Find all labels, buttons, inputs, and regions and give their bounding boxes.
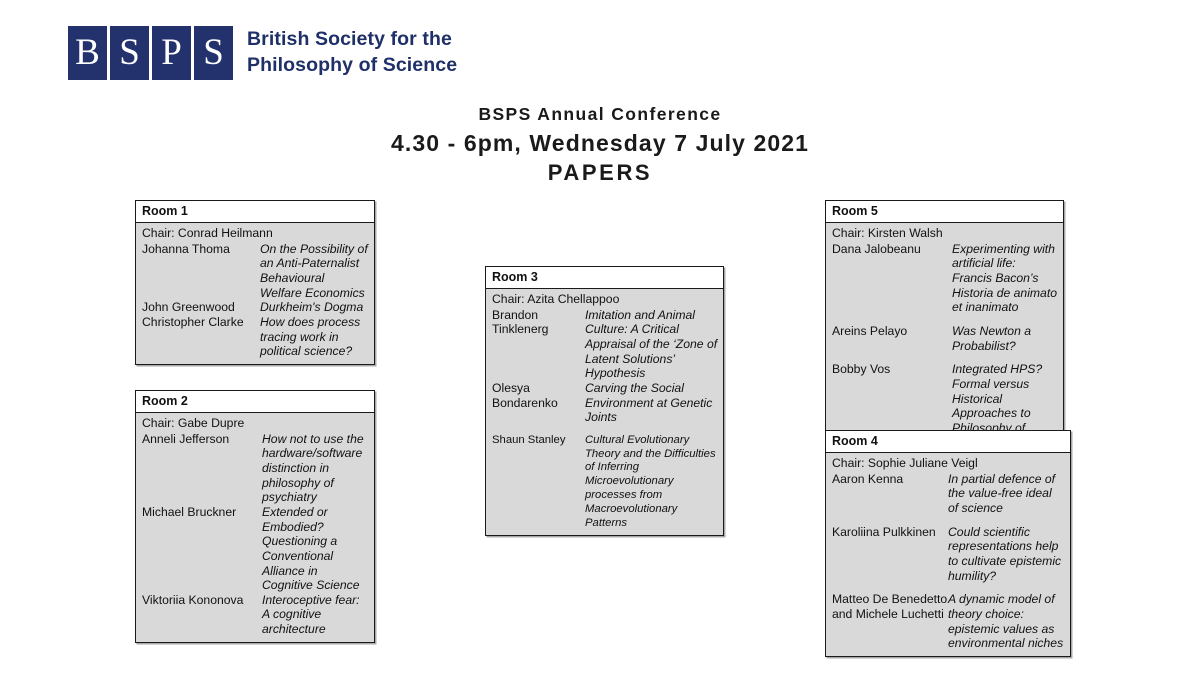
paper-entry: Viktoriia KononovaInteroceptive fear: A … <box>142 593 369 637</box>
room-panel-room-5: Room 5Chair: Kirsten WalshDana Jalobeanu… <box>825 200 1064 456</box>
entry-spacer <box>832 583 1065 592</box>
room-panel-room-3: Room 3Chair: Azita ChellappooBrandon Tin… <box>485 266 724 536</box>
entry-spacer <box>832 516 1065 525</box>
paper-title: In partial defence of the value-free ide… <box>948 472 1065 516</box>
paper-entry: Anneli JeffersonHow not to use the hardw… <box>142 432 369 505</box>
room-panel-room-2: Room 2Chair: Gabe DupreAnneli JeffersonH… <box>135 390 375 643</box>
room-body-room4: Chair: Sophie Juliane VeiglAaron KennaIn… <box>826 453 1070 655</box>
paper-entry: Matteo De Benedetto and Michele Luchetti… <box>832 592 1065 651</box>
room-chair-room5: Chair: Kirsten Walsh <box>832 226 1058 240</box>
logo-letter-b1: B <box>68 26 107 80</box>
speaker-name: Michael Bruckner <box>142 505 262 520</box>
speaker-name: Shaun Stanley <box>492 434 585 448</box>
paper-title: Cultural Evolutionary Theory and the Dif… <box>585 434 718 530</box>
logo-letter-s1: S <box>110 26 149 80</box>
paper-title: Carving the Social Environment at Geneti… <box>585 381 718 425</box>
paper-entry: Michael BrucknerExtended or Embodied? Qu… <box>142 505 369 593</box>
room-panel-room-1: Room 1Chair: Conrad HeilmannJohanna Thom… <box>135 200 375 365</box>
room-body-room2: Chair: Gabe DupreAnneli JeffersonHow not… <box>136 413 374 641</box>
paper-title: Extended or Embodied? Questioning a Conv… <box>262 505 369 593</box>
room-body-room1: Chair: Conrad HeilmannJohanna ThomaOn th… <box>136 223 374 364</box>
speaker-name: Olesya Bondarenko <box>492 381 585 410</box>
speaker-name: Christopher Clarke <box>142 315 260 330</box>
paper-entry: Dana JalobeanuExperimenting with artific… <box>832 242 1058 315</box>
logo-wordmark: British Society for the Philosophy of Sc… <box>247 27 457 78</box>
logo-letter-s2: S <box>194 26 233 80</box>
room-title-room2: Room 2 <box>136 391 374 413</box>
paper-title: On the Possibility of an Anti-Paternalis… <box>260 242 369 301</box>
room-title-room4: Room 4 <box>826 431 1070 453</box>
paper-title: Could scientific representations help to… <box>948 525 1065 584</box>
paper-entry: Brandon TinklenergImitation and Animal C… <box>492 308 718 381</box>
paper-entry: Shaun StanleyCultural Evolutionary Theor… <box>492 434 718 530</box>
room-chair-room2: Chair: Gabe Dupre <box>142 416 369 430</box>
room-chair-room1: Chair: Conrad Heilmann <box>142 226 369 240</box>
room-body-room3: Chair: Azita ChellappooBrandon Tinklener… <box>486 289 723 535</box>
speaker-name: Karoliina Pulkkinen <box>832 525 948 540</box>
logo-letter-p: P <box>152 26 191 80</box>
speaker-name: Johanna Thoma <box>142 242 260 257</box>
paper-entry: Aaron KennaIn partial defence of the val… <box>832 472 1065 516</box>
conference-datetime: 4.30 - 6pm, Wednesday 7 July 2021 <box>0 130 1200 157</box>
paper-title: Interoceptive fear: A cognitive architec… <box>262 593 369 637</box>
speaker-name: Brandon Tinklenerg <box>492 308 585 337</box>
room-body-room5: Chair: Kirsten WalshDana JalobeanuExperi… <box>826 223 1063 455</box>
room-chair-room4: Chair: Sophie Juliane Veigl <box>832 456 1065 470</box>
room-panel-room-4: Room 4Chair: Sophie Juliane VeiglAaron K… <box>825 430 1071 657</box>
paper-title: Was Newton a Probabilist? <box>952 324 1058 353</box>
room-title-room3: Room 3 <box>486 267 723 289</box>
paper-title: A dynamic model of theory choice: episte… <box>948 592 1065 651</box>
logo-letter-squares: B S P S <box>68 26 233 80</box>
paper-title: Durkheim's Dogma <box>260 300 369 315</box>
speaker-name: Areins Pelayo <box>832 324 952 339</box>
speaker-name: Matteo De Benedetto and Michele Luchetti <box>832 592 948 621</box>
paper-title: How not to use the hardware/software dis… <box>262 432 369 505</box>
entry-spacer <box>492 425 718 434</box>
entry-spacer <box>832 353 1058 362</box>
speaker-name: Anneli Jefferson <box>142 432 262 447</box>
speaker-name: Bobby Vos <box>832 362 952 377</box>
room-chair-room3: Chair: Azita Chellappoo <box>492 292 718 306</box>
paper-entry: Christopher ClarkeHow does process traci… <box>142 315 369 359</box>
paper-title: How does process tracing work in politic… <box>260 315 369 359</box>
speaker-name: John Greenwood <box>142 300 260 315</box>
paper-entry: Areins PelayoWas Newton a Probabilist? <box>832 324 1058 353</box>
paper-entry: Olesya BondarenkoCarving the Social Envi… <box>492 381 718 425</box>
conference-header: BSPS Annual Conference 4.30 - 6pm, Wedne… <box>0 104 1200 186</box>
room-title-room1: Room 1 <box>136 201 374 223</box>
paper-title: Experimenting with artificial life: Fran… <box>952 242 1058 315</box>
paper-entry: Karoliina PulkkinenCould scientific repr… <box>832 525 1065 584</box>
speaker-name: Aaron Kenna <box>832 472 948 487</box>
speaker-name: Viktoriia Kononova <box>142 593 262 608</box>
bsps-logo: B S P S British Society for the Philosop… <box>68 26 457 80</box>
room-title-room5: Room 5 <box>826 201 1063 223</box>
paper-entry: John GreenwoodDurkheim's Dogma <box>142 300 369 315</box>
entry-spacer <box>832 315 1058 324</box>
conference-name: BSPS Annual Conference <box>0 104 1200 125</box>
paper-title: Imitation and Animal Culture: A Critical… <box>585 308 718 381</box>
logo-wordmark-line2: Philosophy of Science <box>247 53 457 79</box>
logo-wordmark-line1: British Society for the <box>247 27 457 53</box>
paper-entry: Johanna ThomaOn the Possibility of an An… <box>142 242 369 301</box>
session-type-title: PAPERS <box>0 160 1200 186</box>
speaker-name: Dana Jalobeanu <box>832 242 952 257</box>
